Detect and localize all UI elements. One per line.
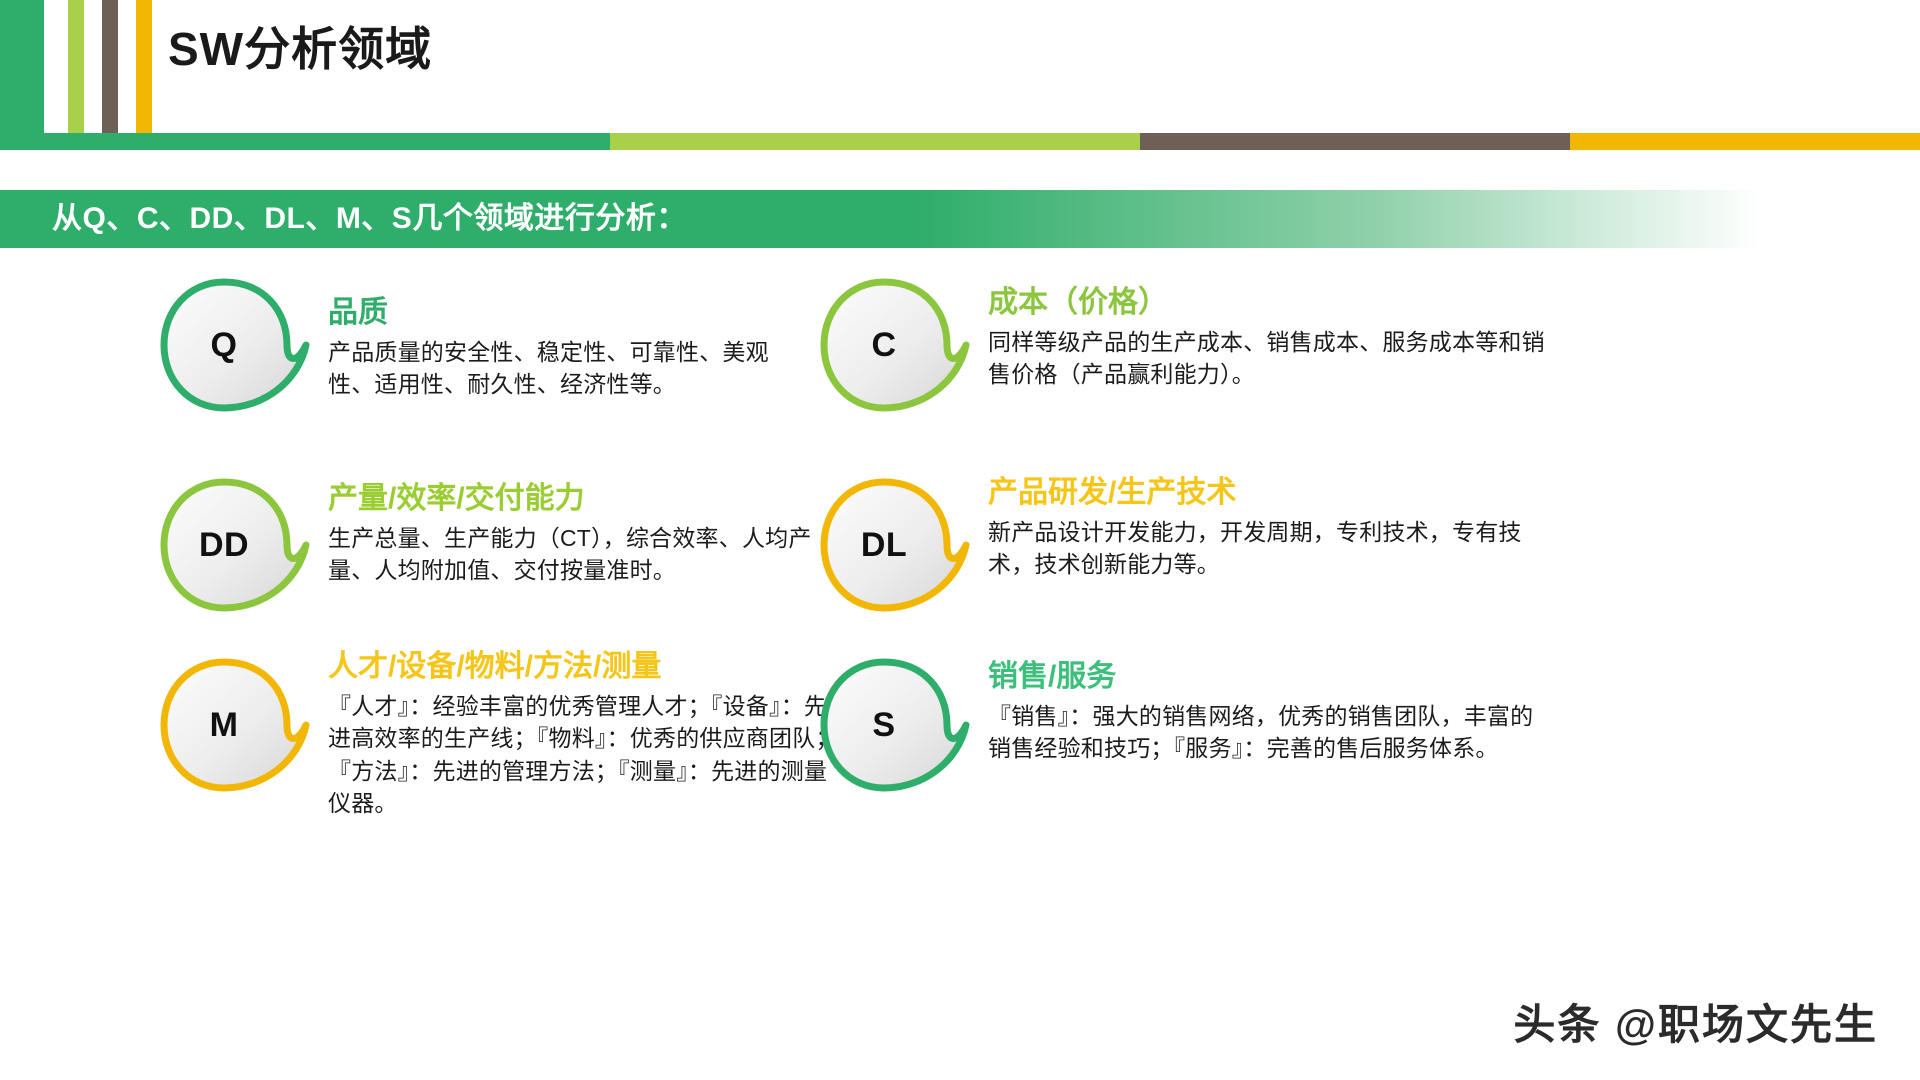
badge-label-dl: DL — [820, 478, 948, 612]
domain-body-c: 同样等级产品的生产成本、销售成本、服务成本等和销售价格（产品赢利能力）。 — [988, 326, 1548, 391]
subtitle-text: 从Q、C、DD、DL、M、S几个领域进行分析： — [52, 192, 687, 246]
badge-label-q: Q — [160, 278, 288, 412]
domain-body-s: 『销售』：强大的销售网络，优秀的销售团队，丰富的销售经验和技巧；『服务』：完善的… — [988, 700, 1548, 765]
domain-text-c: 成本（价格） 同样等级产品的生产成本、销售成本、服务成本等和销售价格（产品赢利能… — [988, 284, 1548, 391]
domain-heading-q: 品质 — [328, 294, 798, 332]
domain-heading-c: 成本（价格） — [988, 284, 1548, 322]
badge-label-s: S — [820, 658, 948, 792]
domain-heading-dd: 产量/效率/交付能力 — [328, 480, 848, 518]
badge-label-dd: DD — [160, 478, 288, 612]
page-title: SW分析领域 — [168, 22, 432, 77]
domain-body-q: 产品质量的安全性、稳定性、可靠性、美观性、适用性、耐久性、经济性等。 — [328, 336, 798, 401]
domain-heading-dl: 产品研发/生产技术 — [988, 474, 1548, 512]
watermark: 头条 @职场文先生 — [1513, 991, 1878, 1052]
domain-body-dd: 生产总量、生产能力（CT），综合效率、人均产量、人均附加值、交付按量准时。 — [328, 522, 848, 587]
domain-body-dl: 新产品设计开发能力，开发周期，专利技术，专有技术，技术创新能力等。 — [988, 516, 1548, 581]
badge-label-c: C — [820, 278, 948, 412]
header-stripe-brown — [102, 0, 118, 133]
domain-text-q: 品质 产品质量的安全性、稳定性、可靠性、美观性、适用性、耐久性、经济性等。 — [328, 294, 798, 401]
domain-text-s: 销售/服务 『销售』：强大的销售网络，优秀的销售团队，丰富的销售经验和技巧；『服… — [988, 658, 1548, 765]
page-header: SW分析领域 — [0, 0, 1920, 150]
domain-body-m: 『人才』：经验丰富的优秀管理人才；『设备』：先进高效率的生产线；『物料』：优秀的… — [328, 690, 848, 821]
band-segment-lime — [610, 133, 1140, 150]
band-segment-amber — [1570, 133, 1920, 150]
domain-text-dl: 产品研发/生产技术 新产品设计开发能力，开发周期，专利技术，专有技术，技术创新能… — [988, 474, 1548, 581]
header-stripe-amber — [136, 0, 152, 133]
header-stripe-lime — [68, 0, 84, 133]
band-segment-brown — [1140, 133, 1570, 150]
domain-heading-m: 人才/设备/物料/方法/测量 — [328, 648, 848, 686]
badge-label-m: M — [160, 658, 288, 792]
domain-text-dd: 产量/效率/交付能力 生产总量、生产能力（CT），综合效率、人均产量、人均附加值… — [328, 480, 848, 587]
band-segment-green — [0, 133, 610, 150]
header-color-band — [0, 133, 1920, 150]
domains-grid: Q 品质 产品质量的安全性、稳定性、可靠性、美观性、适用性、耐久性、经济性等。 … — [0, 258, 1920, 958]
domain-heading-s: 销售/服务 — [988, 658, 1548, 696]
header-left-green-block — [0, 0, 44, 150]
domain-text-m: 人才/设备/物料/方法/测量 『人才』：经验丰富的优秀管理人才；『设备』：先进高… — [328, 648, 848, 820]
